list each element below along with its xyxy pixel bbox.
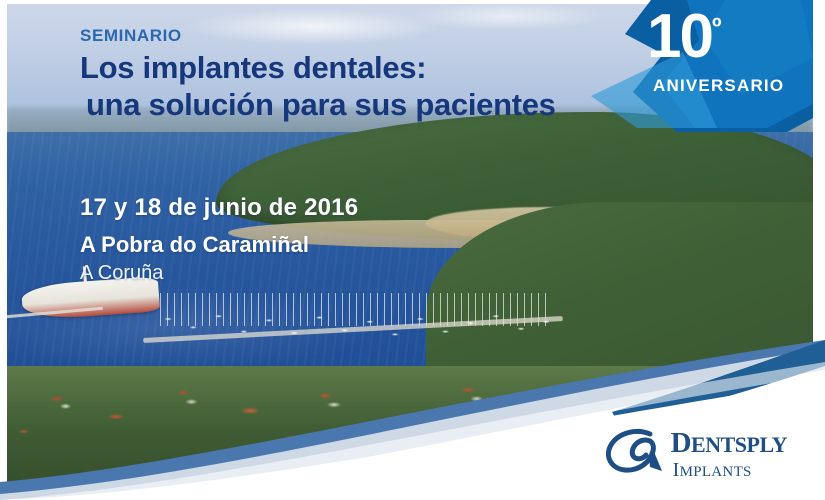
dentsply-swoosh-mark	[606, 427, 664, 482]
event-details-block: 17 y 18 de junio de 2016 A Pobra do Cara…	[80, 194, 540, 285]
event-region: A Coruña	[80, 262, 540, 285]
anniversary-label: ANIVERSARIO	[653, 76, 784, 96]
anniversary-number: 10º	[647, 6, 721, 68]
degree-symbol: º	[712, 11, 722, 41]
event-venue: A Pobra do Caramiñal	[80, 232, 540, 258]
anniversary-badge: 10º ANIVERSARIO	[591, 0, 813, 132]
dentsply-implants-logo: DENTSPLY IMPLANTS	[606, 427, 787, 482]
logo-product: IMPLANTS	[673, 460, 787, 480]
logo-mark-shape	[606, 427, 664, 477]
logo-wordmark: DENTSPLY IMPLANTS	[671, 429, 787, 480]
event-date: 17 y 18 de junio de 2016	[80, 194, 540, 222]
seminar-title-line2: una solución para sus pacientes	[86, 87, 620, 124]
seminar-poster: 10º ANIVERSARIO SEMINARIO Los implantes …	[0, 0, 825, 500]
seminar-title-line1: Los implantes dentales:	[80, 50, 620, 87]
logo-brand: DENTSPLY	[671, 429, 787, 458]
seminar-kicker: SEMINARIO	[80, 26, 620, 46]
headline-block: SEMINARIO Los implantes dentales: una so…	[80, 26, 620, 123]
